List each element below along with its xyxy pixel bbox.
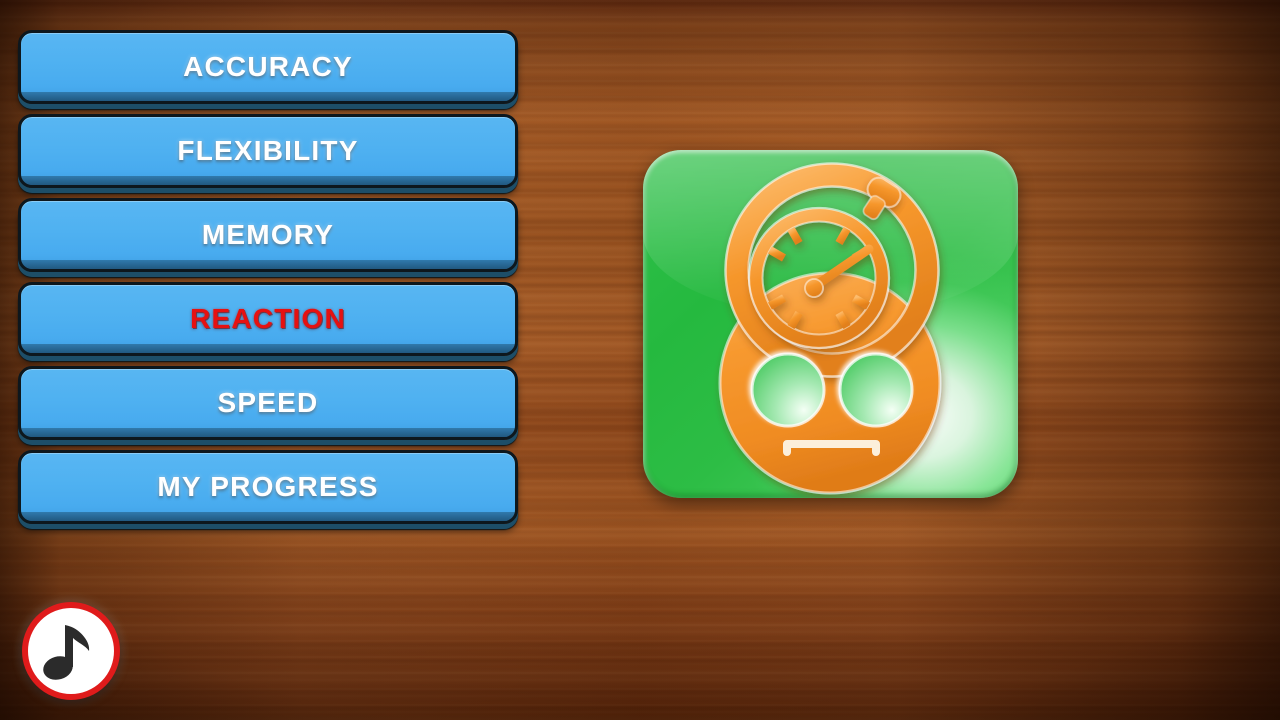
menu-item-speed[interactable]: SPEED bbox=[18, 366, 518, 440]
menu-item-accuracy[interactable]: ACCURACY bbox=[18, 30, 518, 104]
menu-item-label: FLEXIBILITY bbox=[21, 135, 515, 167]
stopwatch-face-icon bbox=[643, 150, 1018, 498]
music-toggle-button[interactable] bbox=[22, 602, 120, 700]
menu-item-label: MY PROGRESS bbox=[21, 471, 515, 503]
menu-item-label: REACTION bbox=[21, 303, 515, 335]
menu-item-memory[interactable]: MEMORY bbox=[18, 198, 518, 272]
reaction-game-tile[interactable] bbox=[643, 150, 1018, 498]
menu-item-label: ACCURACY bbox=[21, 51, 515, 83]
main-menu: ACCURACY FLEXIBILITY MEMORY REACTION SPE… bbox=[18, 30, 518, 534]
menu-item-label: SPEED bbox=[21, 387, 515, 419]
music-note-icon bbox=[40, 617, 102, 685]
menu-item-label: MEMORY bbox=[21, 219, 515, 251]
menu-item-reaction[interactable]: REACTION bbox=[18, 282, 518, 356]
app-screen: ACCURACY FLEXIBILITY MEMORY REACTION SPE… bbox=[0, 0, 1280, 720]
menu-item-my-progress[interactable]: MY PROGRESS bbox=[18, 450, 518, 524]
menu-item-flexibility[interactable]: FLEXIBILITY bbox=[18, 114, 518, 188]
